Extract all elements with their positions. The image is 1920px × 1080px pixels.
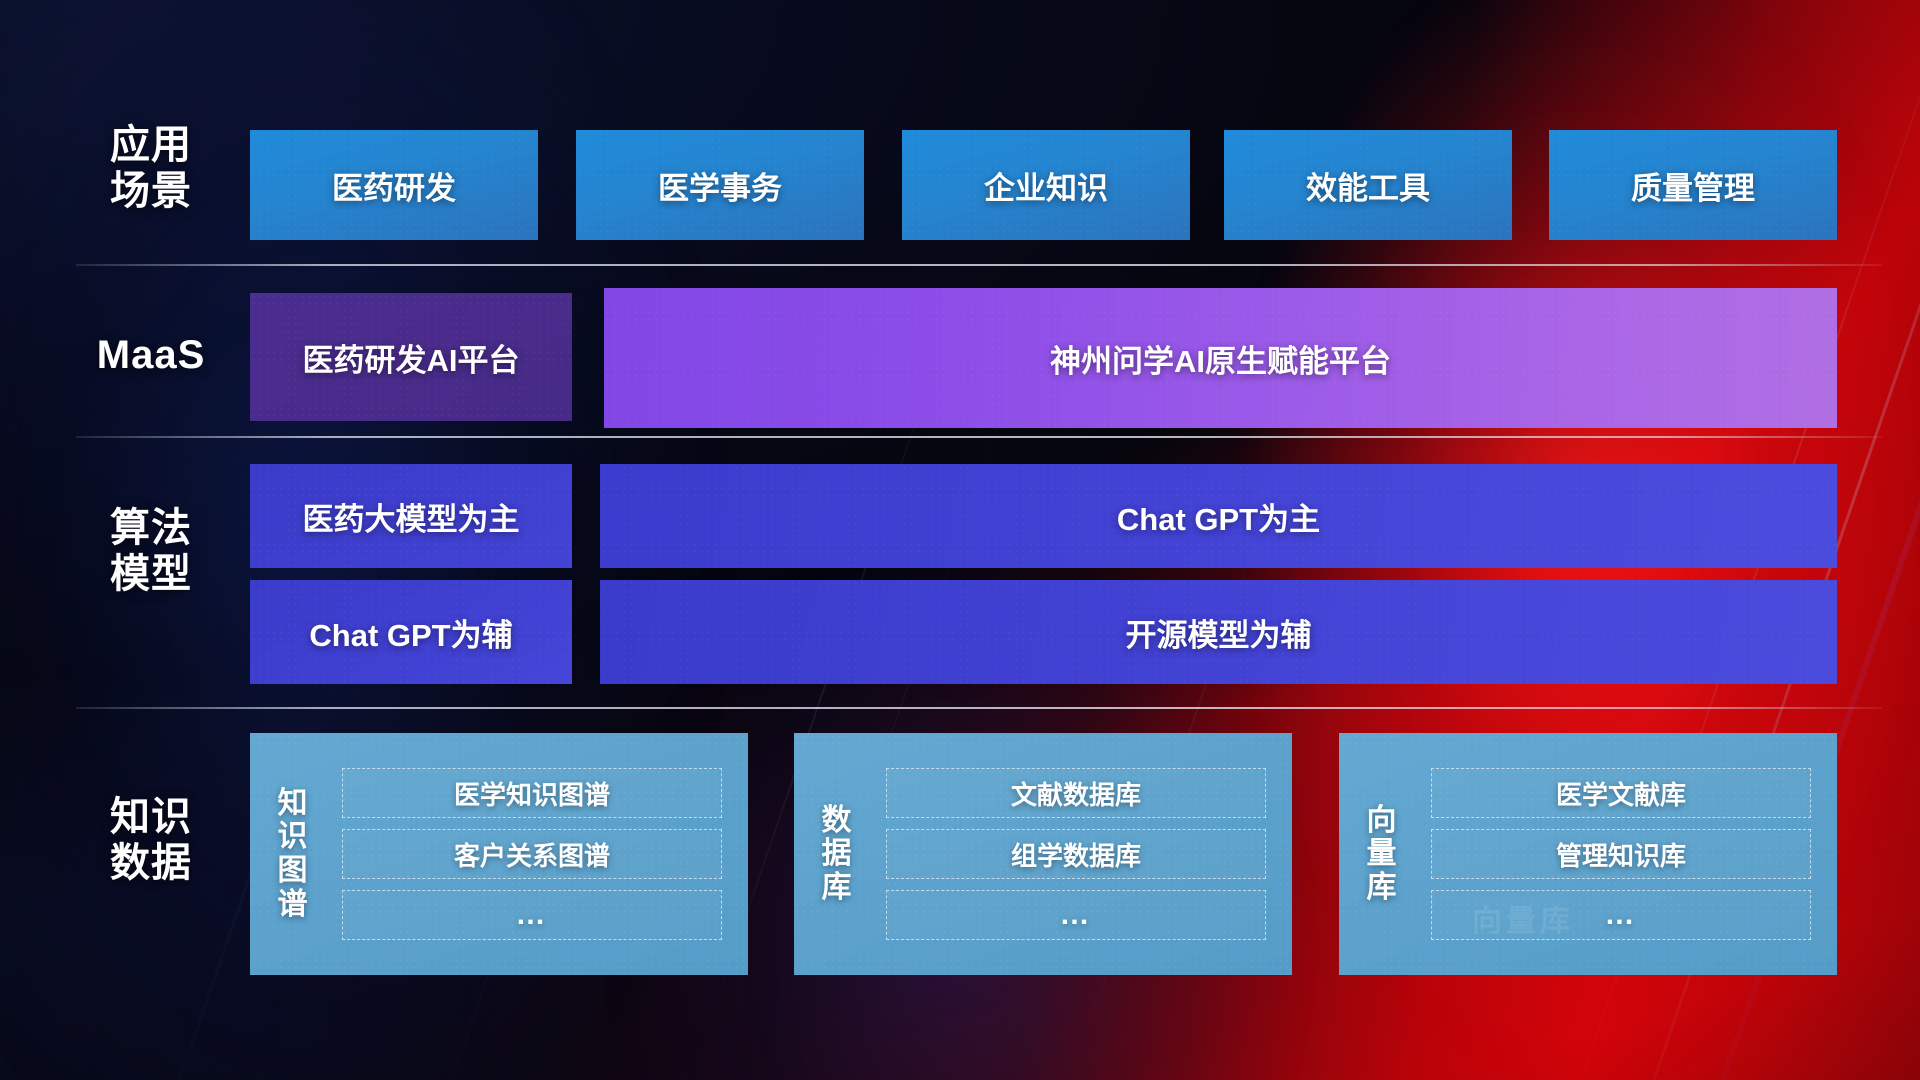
- knowledge-item-label: 医学知识图谱: [454, 775, 610, 812]
- app-scenario-label: 医学事务: [658, 163, 782, 208]
- knowledge-item[interactable]: 管理知识库: [1431, 829, 1811, 879]
- app-scenario-label: 医药研发: [332, 163, 456, 208]
- row-label-algorithm-models: 算法 模型: [76, 505, 226, 598]
- knowledge-item-label: 文献数据库: [1011, 775, 1141, 812]
- app-scenario-box-1[interactable]: 医药研发: [250, 130, 538, 240]
- knowledge-item-more[interactable]: …: [1431, 890, 1811, 940]
- knowledge-item[interactable]: 组学数据库: [886, 829, 1266, 879]
- maas-box-label: 医药研发AI平台: [303, 335, 520, 380]
- knowledge-group-label: 向量库: [1339, 804, 1425, 905]
- algo-left-box-2[interactable]: Chat GPT为辅: [250, 580, 572, 684]
- knowledge-item[interactable]: 文献数据库: [886, 768, 1266, 818]
- knowledge-group-label: 知识图谱: [250, 787, 336, 921]
- knowledge-item[interactable]: 医学文献库: [1431, 768, 1811, 818]
- algo-box-label: 医药大模型为主: [303, 494, 520, 539]
- knowledge-item-more[interactable]: …: [886, 890, 1266, 940]
- knowledge-item-label: …: [1605, 898, 1638, 932]
- knowledge-group-database[interactable]: 数据库 文献数据库 组学数据库 …: [794, 733, 1292, 975]
- knowledge-group-label: 数据库: [794, 804, 880, 905]
- algo-right-box-2[interactable]: 开源模型为辅: [600, 580, 1837, 684]
- knowledge-group-items: 医学文献库 管理知识库 …: [1425, 754, 1837, 954]
- knowledge-group-items: 医学知识图谱 客户关系图谱 …: [336, 754, 748, 954]
- knowledge-item[interactable]: 医学知识图谱: [342, 768, 722, 818]
- algo-box-label: Chat GPT为辅: [309, 610, 512, 655]
- knowledge-item-label: …: [516, 898, 549, 932]
- maas-box-shenzhou-platform[interactable]: 神州问学AI原生赋能平台: [604, 288, 1837, 428]
- app-scenario-box-5[interactable]: 质量管理: [1549, 130, 1837, 240]
- row-divider-2: [76, 436, 1882, 438]
- algo-left-box-1[interactable]: 医药大模型为主: [250, 464, 572, 568]
- knowledge-group-items: 文献数据库 组学数据库 …: [880, 754, 1292, 954]
- row-divider-1: [76, 264, 1882, 266]
- knowledge-item-label: 医学文献库: [1556, 775, 1686, 812]
- maas-box-label: 神州问学AI原生赋能平台: [1050, 336, 1391, 381]
- app-scenario-box-2[interactable]: 医学事务: [576, 130, 864, 240]
- app-scenario-label: 质量管理: [1631, 163, 1755, 208]
- app-scenario-box-4[interactable]: 效能工具: [1224, 130, 1512, 240]
- app-scenario-label: 效能工具: [1306, 163, 1430, 208]
- knowledge-group-knowledge-graph[interactable]: 知识图谱 医学知识图谱 客户关系图谱 …: [250, 733, 748, 975]
- row-label-application-scenarios: 应用 场景: [76, 122, 226, 215]
- knowledge-item-label: 组学数据库: [1011, 836, 1141, 873]
- knowledge-item-label: …: [1060, 898, 1093, 932]
- knowledge-item[interactable]: 客户关系图谱: [342, 829, 722, 879]
- knowledge-group-label-text: 知识图谱: [278, 787, 309, 921]
- algo-box-label: 开源模型为辅: [1126, 610, 1312, 655]
- algo-box-label: Chat GPT为主: [1117, 494, 1320, 539]
- knowledge-item-label: 管理知识库: [1556, 836, 1686, 873]
- app-scenario-box-3[interactable]: 企业知识: [902, 130, 1190, 240]
- knowledge-group-label-text: 向量库: [1367, 804, 1398, 905]
- knowledge-item-more[interactable]: …: [342, 890, 722, 940]
- row-label-knowledge-data: 知识 数据: [76, 794, 226, 887]
- maas-box-pharma-ai-platform[interactable]: 医药研发AI平台: [250, 293, 572, 421]
- row-label-maas: MaaS: [76, 332, 226, 378]
- knowledge-group-label-text: 数据库: [822, 804, 853, 905]
- knowledge-group-vector-db[interactable]: 向量库 医学文献库 管理知识库 …: [1339, 733, 1837, 975]
- knowledge-item-label: 客户关系图谱: [454, 836, 610, 873]
- algo-right-box-1[interactable]: Chat GPT为主: [600, 464, 1837, 568]
- row-divider-3: [76, 707, 1882, 709]
- app-scenario-label: 企业知识: [984, 163, 1108, 208]
- architecture-diagram: 应用 场景 医药研发 医学事务 企业知识 效能工具 质量管理 MaaS 医药研发…: [0, 0, 1920, 1080]
